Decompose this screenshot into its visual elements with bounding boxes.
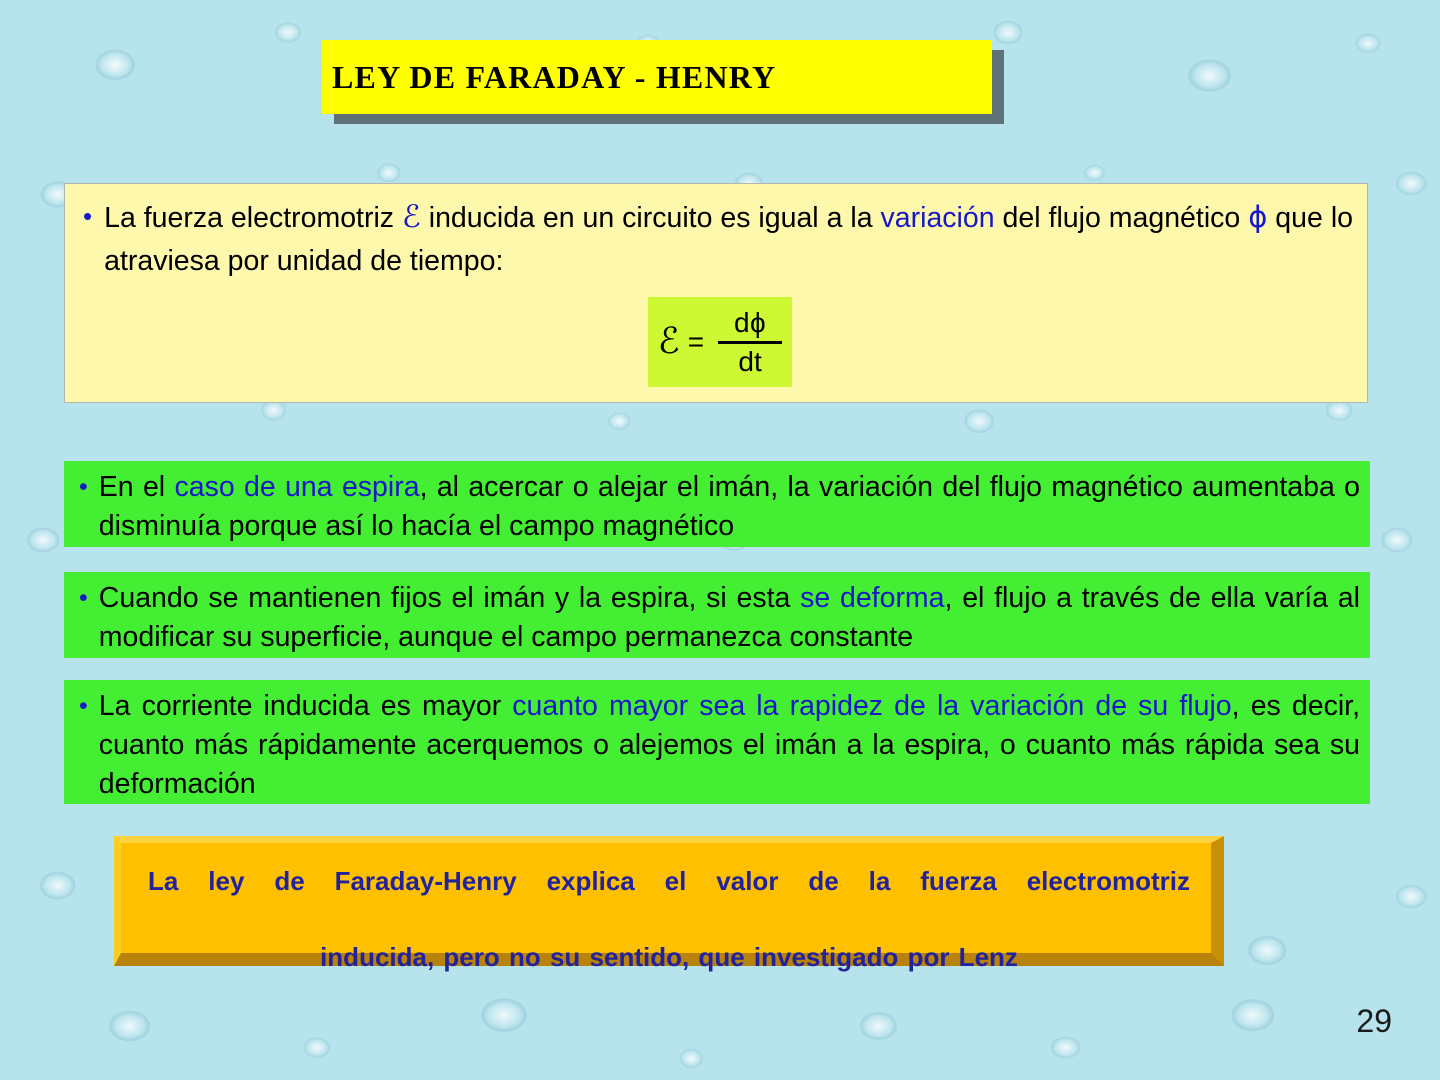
- flux-symbol-icon: ϕ: [1248, 200, 1267, 234]
- title-banner: LEY DE FARADAY - HENRY: [322, 40, 992, 114]
- page-number: 29: [1356, 1003, 1392, 1040]
- point-bullet-row: • Cuando se mantienen fijos el imán y la…: [79, 579, 1360, 657]
- point-part1: En el: [99, 471, 175, 503]
- point-text: En el caso de una espira, al acercar o a…: [99, 468, 1360, 546]
- statement-highlight: variación: [881, 202, 995, 234]
- point-text: La corriente inducida es mayor cuanto ma…: [99, 687, 1360, 804]
- emf-symbol-icon: ℰ: [402, 199, 421, 235]
- formula-chip: ℰ = dϕ dt: [648, 297, 792, 387]
- point-bullet-row: • La corriente inducida es mayor cuanto …: [79, 687, 1360, 804]
- statement-part2: inducida en un circuito es igual a la: [421, 202, 881, 234]
- conclusion-line-2: inducida, pero no su sentido, que invest…: [148, 938, 1190, 976]
- conclusion-text: La ley de Faraday-Henry explica el valor…: [148, 862, 1190, 976]
- conclusion-line-1: La ley de Faraday-Henry explica el valor…: [148, 862, 1190, 938]
- point-text: Cuando se mantienen fijos el imán y la e…: [99, 579, 1360, 657]
- point-panel-espira: • En el caso de una espira, al acercar o…: [64, 461, 1370, 547]
- point-highlight: se deforma: [800, 582, 944, 614]
- bullet-icon: •: [83, 203, 92, 229]
- page-title: LEY DE FARADAY - HENRY: [332, 40, 776, 114]
- statement-part1: La fuerza electromotriz: [104, 202, 402, 234]
- bullet-icon: •: [79, 586, 88, 611]
- point-highlight: cuanto mayor sea la rapidez de la variac…: [512, 690, 1231, 722]
- statement-text: La fuerza electromotriz ℰ inducida en un…: [104, 196, 1353, 283]
- point-highlight: caso de una espira: [174, 471, 419, 503]
- point-panel-rapidez: • La corriente inducida es mayor cuanto …: [64, 680, 1370, 804]
- point-bullet-row: • En el caso de una espira, al acercar o…: [79, 468, 1360, 546]
- bullet-icon: •: [79, 475, 88, 500]
- formula-fraction: dϕ dt: [718, 308, 782, 376]
- point-part1: La corriente inducida es mayor: [99, 690, 513, 722]
- formula-equals-sign: =: [688, 328, 704, 356]
- formula-numerator: dϕ: [728, 308, 772, 337]
- formula-fraction-bar: [718, 341, 782, 344]
- conclusion-panel: La ley de Faraday-Henry explica el valor…: [114, 836, 1224, 966]
- bullet-icon: •: [79, 694, 88, 719]
- point-panel-deforma: • Cuando se mantienen fijos el imán y la…: [64, 572, 1370, 658]
- statement-bullet-row: • La fuerza electromotriz ℰ inducida en …: [83, 196, 1353, 283]
- statement-part3: del flujo magnético: [995, 202, 1249, 234]
- formula-denominator: dt: [732, 347, 767, 376]
- point-part1: Cuando se mantienen fijos el imán y la e…: [99, 582, 800, 614]
- formula-emf-symbol: ℰ: [658, 324, 680, 360]
